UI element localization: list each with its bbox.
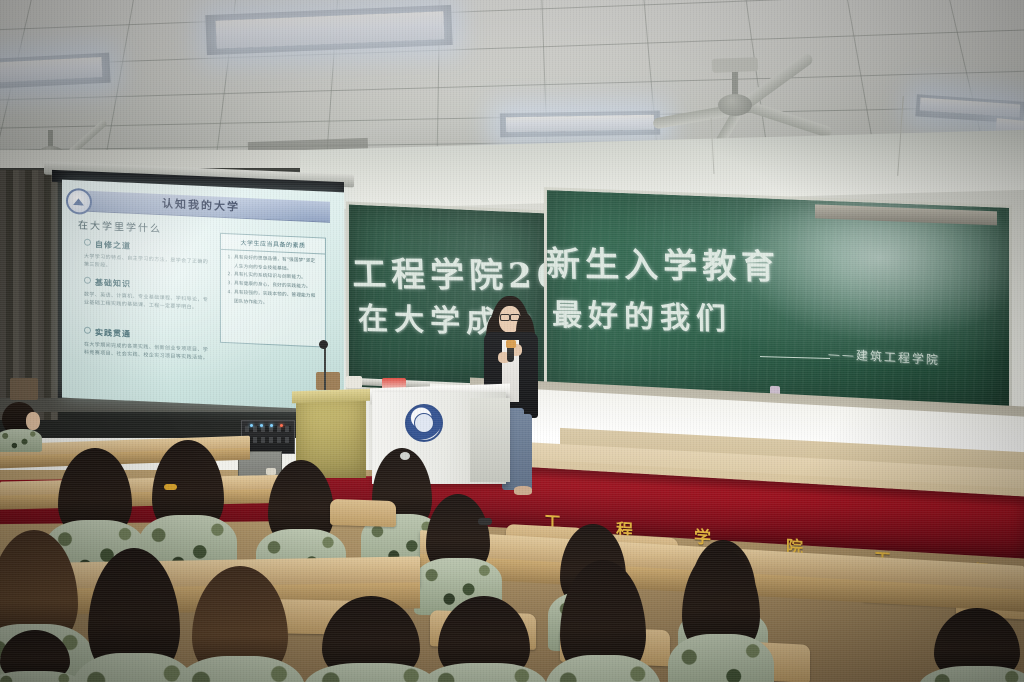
chair-back xyxy=(330,499,396,527)
presenter-shoe xyxy=(514,486,532,495)
hair-tie-icon xyxy=(400,452,410,460)
desk-box xyxy=(316,372,340,390)
presenter-lanyard xyxy=(506,340,516,348)
gooseneck-microphone-stand xyxy=(324,344,326,390)
ledge-object xyxy=(10,378,38,400)
student xyxy=(322,596,420,682)
student xyxy=(192,566,288,682)
student xyxy=(0,630,70,682)
student xyxy=(152,440,224,536)
student xyxy=(560,560,646,682)
student xyxy=(58,448,132,540)
podium-side-panel xyxy=(470,398,510,482)
university-crest-icon xyxy=(405,404,443,442)
student xyxy=(438,596,530,682)
student xyxy=(268,460,334,548)
chalkboard-text-line: 新生入学教育 xyxy=(545,236,780,288)
eyeglasses-icon xyxy=(500,314,510,321)
student-face xyxy=(26,412,40,430)
student xyxy=(426,494,490,576)
hair-clip-icon xyxy=(478,518,492,525)
gooseneck-microphone-icon xyxy=(319,340,328,349)
presenter-jeans xyxy=(516,414,532,492)
projector-screen: 认知我的大学 在大学里学什么 自修之道 大学学习的特点、自主学习的方法，是学会了… xyxy=(62,180,344,411)
hair-clip-icon xyxy=(164,484,177,490)
student xyxy=(88,548,180,682)
student xyxy=(934,608,1020,682)
desk-paper xyxy=(346,376,362,388)
student xyxy=(682,548,760,658)
chalkboard-text-line: 最好的我们 xyxy=(552,290,733,338)
lecture-hall-photo: 认知我的大学 在大学里学什么 自修之道 大学学习的特点、自主学习的方法，是学会了… xyxy=(0,0,1024,682)
